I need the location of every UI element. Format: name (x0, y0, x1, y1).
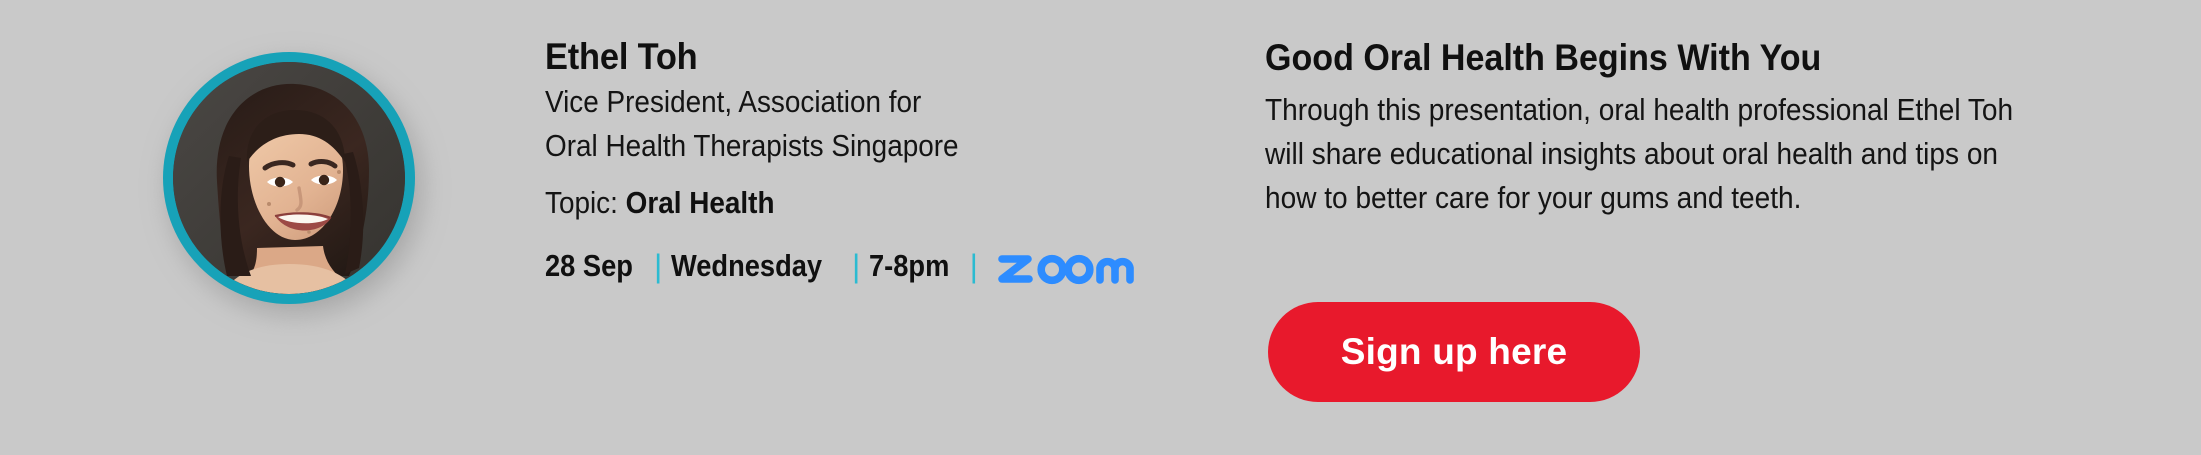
speaker-role-line-1: Vice President, Association for (545, 80, 1121, 124)
event-date: 28 Sep (545, 246, 633, 286)
separator-icon: | (970, 246, 978, 286)
sign-up-button[interactable]: Sign up here (1268, 302, 1640, 402)
speaker-portrait (163, 52, 415, 304)
speaker-topic: Topic: Oral Health (545, 182, 1121, 224)
event-datetime-row: 28 Sep | Wednesday | 7-8pm | (545, 246, 1185, 286)
promo-body-text: Through this presentation, oral health p… (1265, 88, 2054, 220)
zoom-logo-icon (997, 246, 1135, 286)
promo-headline: Good Oral Health Begins With You (1265, 34, 1992, 82)
topic-value: Oral Health (626, 185, 775, 220)
speaker-info-column: Ethel Toh Vice President, Association fo… (545, 34, 1185, 286)
topic-label: Topic: (545, 185, 618, 220)
promo-column: Good Oral Health Begins With You Through… (1265, 34, 2055, 220)
event-day: Wednesday (671, 246, 822, 286)
webinar-promo-banner: Ethel Toh Vice President, Association fo… (0, 0, 2201, 455)
speaker-role-line-2: Oral Health Therapists Singapore (545, 124, 1121, 168)
event-time: 7-8pm (869, 246, 949, 286)
speaker-name: Ethel Toh (545, 34, 1140, 80)
separator-icon: | (852, 246, 860, 286)
speaker-photo-image (173, 62, 405, 294)
separator-icon: | (654, 246, 662, 286)
